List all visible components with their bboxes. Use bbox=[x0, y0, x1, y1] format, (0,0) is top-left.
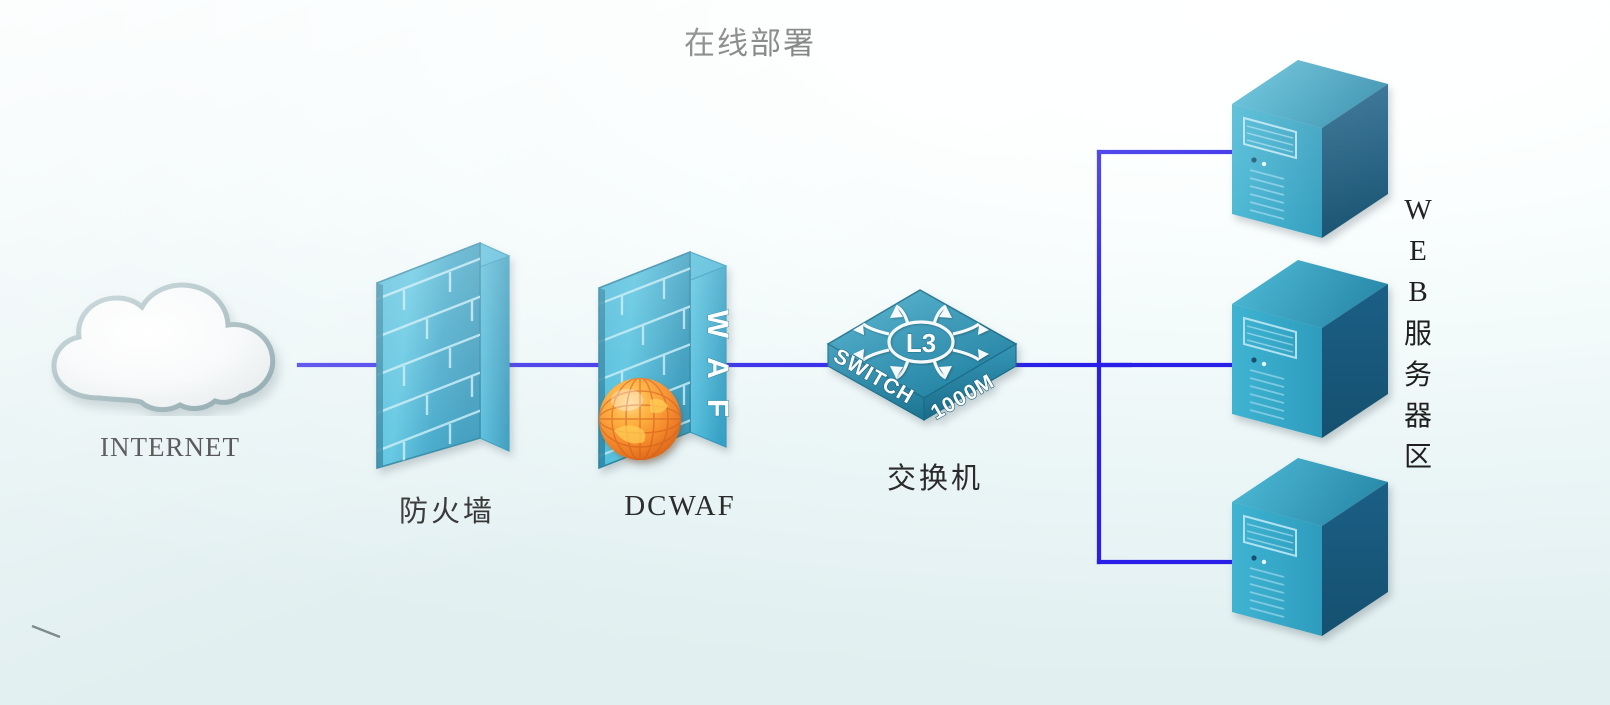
cloud-icon bbox=[34, 276, 302, 416]
link-bus-server-1 bbox=[1097, 150, 1232, 154]
switch-label: 交换机 bbox=[840, 455, 1030, 497]
web-server-1 bbox=[1226, 42, 1394, 248]
web-server-zone-label: W E B 服 务 器 区 bbox=[1396, 190, 1440, 477]
web-server-3 bbox=[1226, 440, 1394, 646]
waf-side-text: W A F bbox=[701, 310, 734, 417]
svg-text:W: W bbox=[701, 310, 734, 339]
internet-label: INTERNET bbox=[60, 432, 280, 463]
zone-char-0: W bbox=[1396, 190, 1440, 231]
globe-icon bbox=[599, 378, 681, 460]
stray-tick-mark bbox=[30, 624, 64, 638]
firewall-brick-icon bbox=[372, 238, 518, 478]
dcwaf-label: DCWAF bbox=[570, 490, 790, 523]
link-bus-server-2 bbox=[1097, 363, 1232, 367]
zone-char-5: 器 bbox=[1396, 395, 1440, 436]
switch-layer-text: L3 bbox=[906, 328, 936, 358]
zone-char-6: 区 bbox=[1396, 436, 1440, 477]
web-server-2 bbox=[1226, 242, 1394, 448]
svg-text:F: F bbox=[701, 399, 734, 417]
zone-char-1: E bbox=[1396, 231, 1440, 272]
firewall-label: 防火墙 bbox=[352, 488, 542, 530]
network-diagram-canvas: 在线部署 INTE bbox=[0, 0, 1610, 705]
svg-text:A: A bbox=[701, 357, 734, 379]
server-bus-trunk bbox=[1097, 150, 1101, 564]
zone-char-3: 服 bbox=[1396, 313, 1440, 354]
link-bus-server-3 bbox=[1097, 560, 1232, 564]
switch-icon: L3 SWITCH 1000M bbox=[820, 272, 1025, 424]
zone-char-4: 务 bbox=[1396, 354, 1440, 395]
waf-brick-icon: W A F bbox=[594, 240, 744, 480]
zone-char-2: B bbox=[1396, 272, 1440, 313]
